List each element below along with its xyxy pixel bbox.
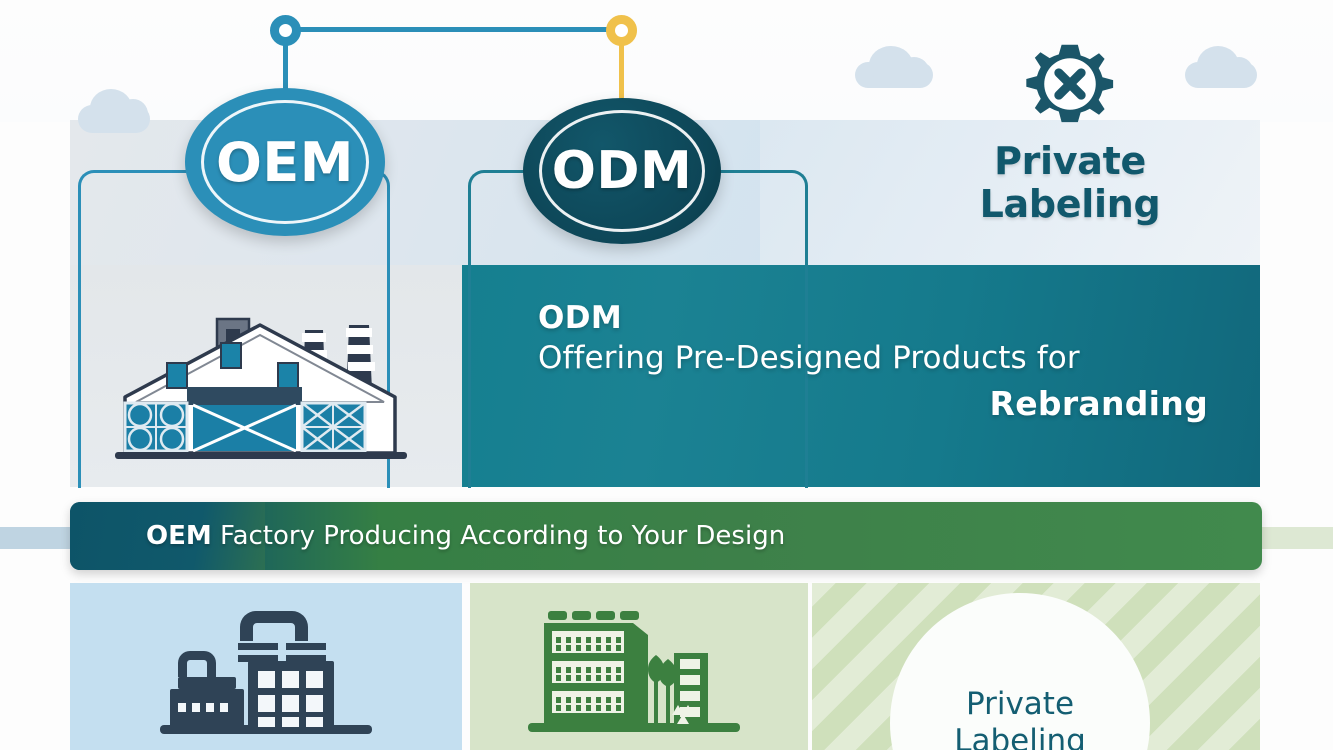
- odm-badge[interactable]: ODM: [523, 98, 721, 244]
- oem-banner-bold: OEM: [146, 521, 212, 551]
- private-labeling-line2: Labeling: [955, 183, 1185, 226]
- oem-banner[interactable]: OEM Factory Producing According to Your …: [70, 502, 1262, 570]
- pl-circle-line2: Labeling: [954, 723, 1086, 750]
- odm-subline: Offering Pre-Designed Products for: [538, 340, 1238, 376]
- factory-plant-icon: [160, 605, 372, 737]
- odm-badge-label: ODM: [552, 141, 693, 201]
- gear-x-icon: [955, 28, 1185, 140]
- office-building-panel[interactable]: [470, 583, 808, 750]
- cloud-left-icon: [78, 105, 150, 133]
- infographic-canvas: OEM ODM Private Labeling ODM: [0, 0, 1333, 750]
- private-labeling-line1: Private: [955, 140, 1185, 183]
- odm-text-block: ODM Offering Pre-Designed Products for R…: [538, 300, 1238, 423]
- private-labeling-title: Private Labeling: [955, 140, 1185, 225]
- oem-badge[interactable]: OEM: [185, 88, 385, 236]
- private-labeling-header: Private Labeling: [955, 28, 1185, 225]
- cloud-mid-right-icon: [855, 62, 933, 88]
- office-building-trees-icon: [528, 605, 740, 737]
- oem-connector-node[interactable]: [270, 15, 301, 46]
- connector-horizontal-rail: [288, 27, 624, 32]
- oem-banner-label: OEM Factory Producing According to Your …: [70, 521, 785, 551]
- pl-circle-line1: Private: [954, 686, 1086, 723]
- private-labeling-panel[interactable]: Private Labeling: [812, 583, 1260, 750]
- cloud-far-right-icon: [1185, 62, 1257, 88]
- oem-banner-rest: Factory Producing According to Your Desi…: [212, 521, 785, 551]
- odm-heading: ODM: [538, 300, 1238, 336]
- private-labeling-circle: Private Labeling: [890, 593, 1150, 750]
- factory-building-illustration: [95, 275, 425, 490]
- banner-right-accent-bar: [1255, 527, 1333, 549]
- private-labeling-circle-text: Private Labeling: [954, 686, 1086, 750]
- factory-plant-panel[interactable]: [70, 583, 462, 750]
- oem-badge-label: OEM: [216, 131, 354, 194]
- odm-connector-node[interactable]: [606, 15, 637, 46]
- odm-emphasis: Rebranding: [538, 384, 1238, 423]
